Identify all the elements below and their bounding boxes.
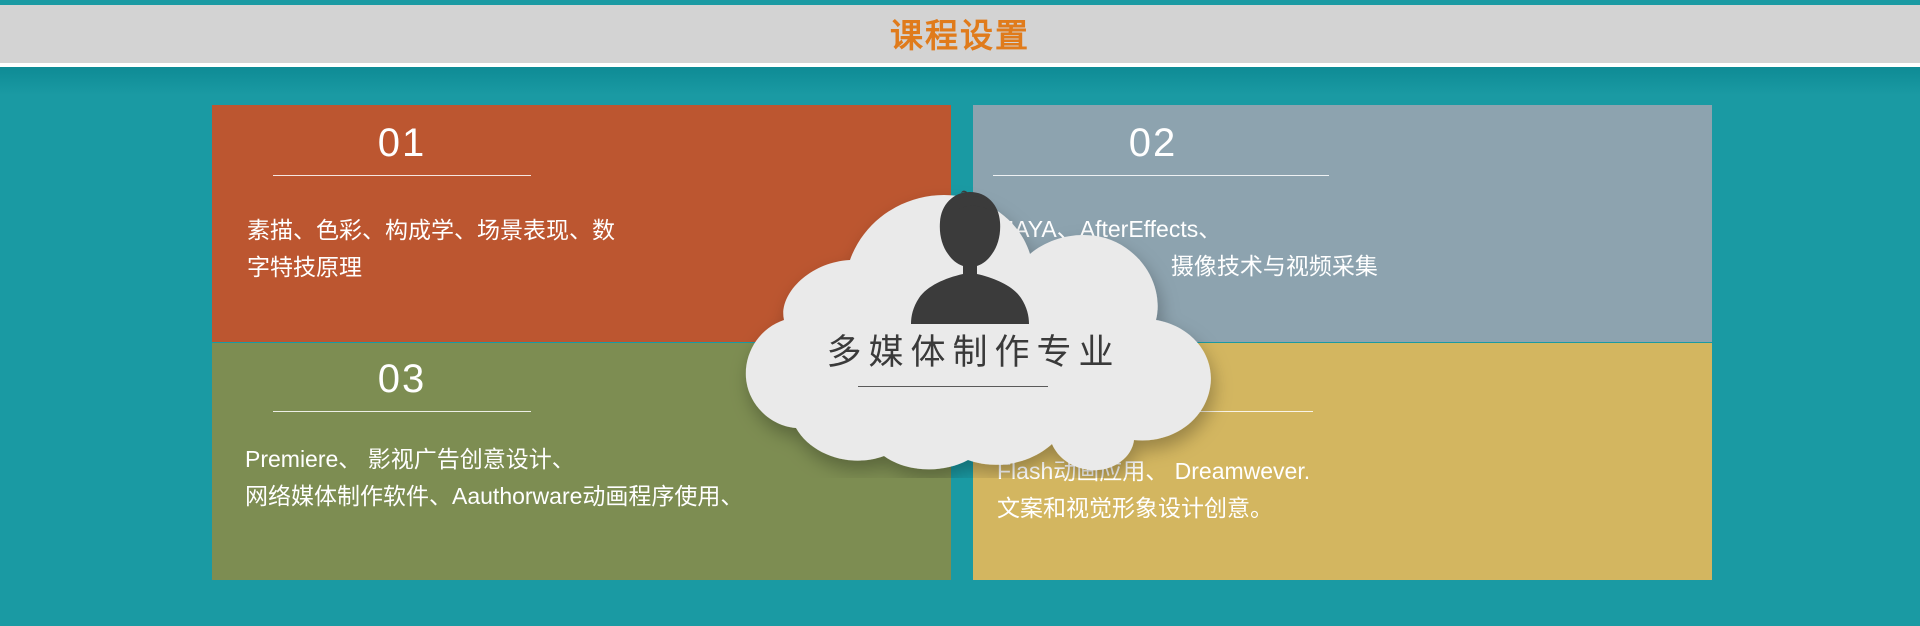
card-04-line-2: 文案和视觉形象设计创意。 — [997, 490, 1310, 527]
card-03-line-2: 网络媒体制作软件、Aauthorware动画程序使用、 — [245, 478, 743, 515]
card-01-number: 01 — [242, 121, 562, 165]
header-teal-gradient — [0, 67, 1920, 95]
card-01-line-2: 字特技原理 — [247, 249, 615, 286]
card-03-line-1: Premiere、 影视广告创意设计、 — [245, 441, 743, 478]
card-02-divider — [993, 175, 1329, 176]
cloud-shape-icon — [700, 178, 1240, 478]
center-cloud-callout: 多媒体制作专业 — [700, 178, 1240, 478]
card-03-number: 03 — [242, 357, 562, 401]
card-01-number-block: 01 — [242, 121, 562, 176]
slide-canvas: 课程设置 01 素描、色彩、构成学、场景表现、数 字特技原理 02 MAYA、A… — [0, 0, 1920, 626]
header-band: 课程设置 — [0, 5, 1920, 63]
card-01-body: 素描、色彩、构成学、场景表现、数 字特技原理 — [247, 212, 615, 287]
page-title: 课程设置 — [890, 19, 1030, 52]
card-01-divider — [273, 175, 531, 176]
card-03-divider — [273, 411, 531, 412]
card-02-number-block: 02 — [993, 121, 1313, 176]
card-01-line-1: 素描、色彩、构成学、场景表现、数 — [247, 212, 615, 249]
card-02-number: 02 — [993, 121, 1313, 165]
card-03-number-block: 03 — [242, 357, 562, 412]
card-03-body: Premiere、 影视广告创意设计、 网络媒体制作软件、Aauthorware… — [245, 441, 743, 516]
